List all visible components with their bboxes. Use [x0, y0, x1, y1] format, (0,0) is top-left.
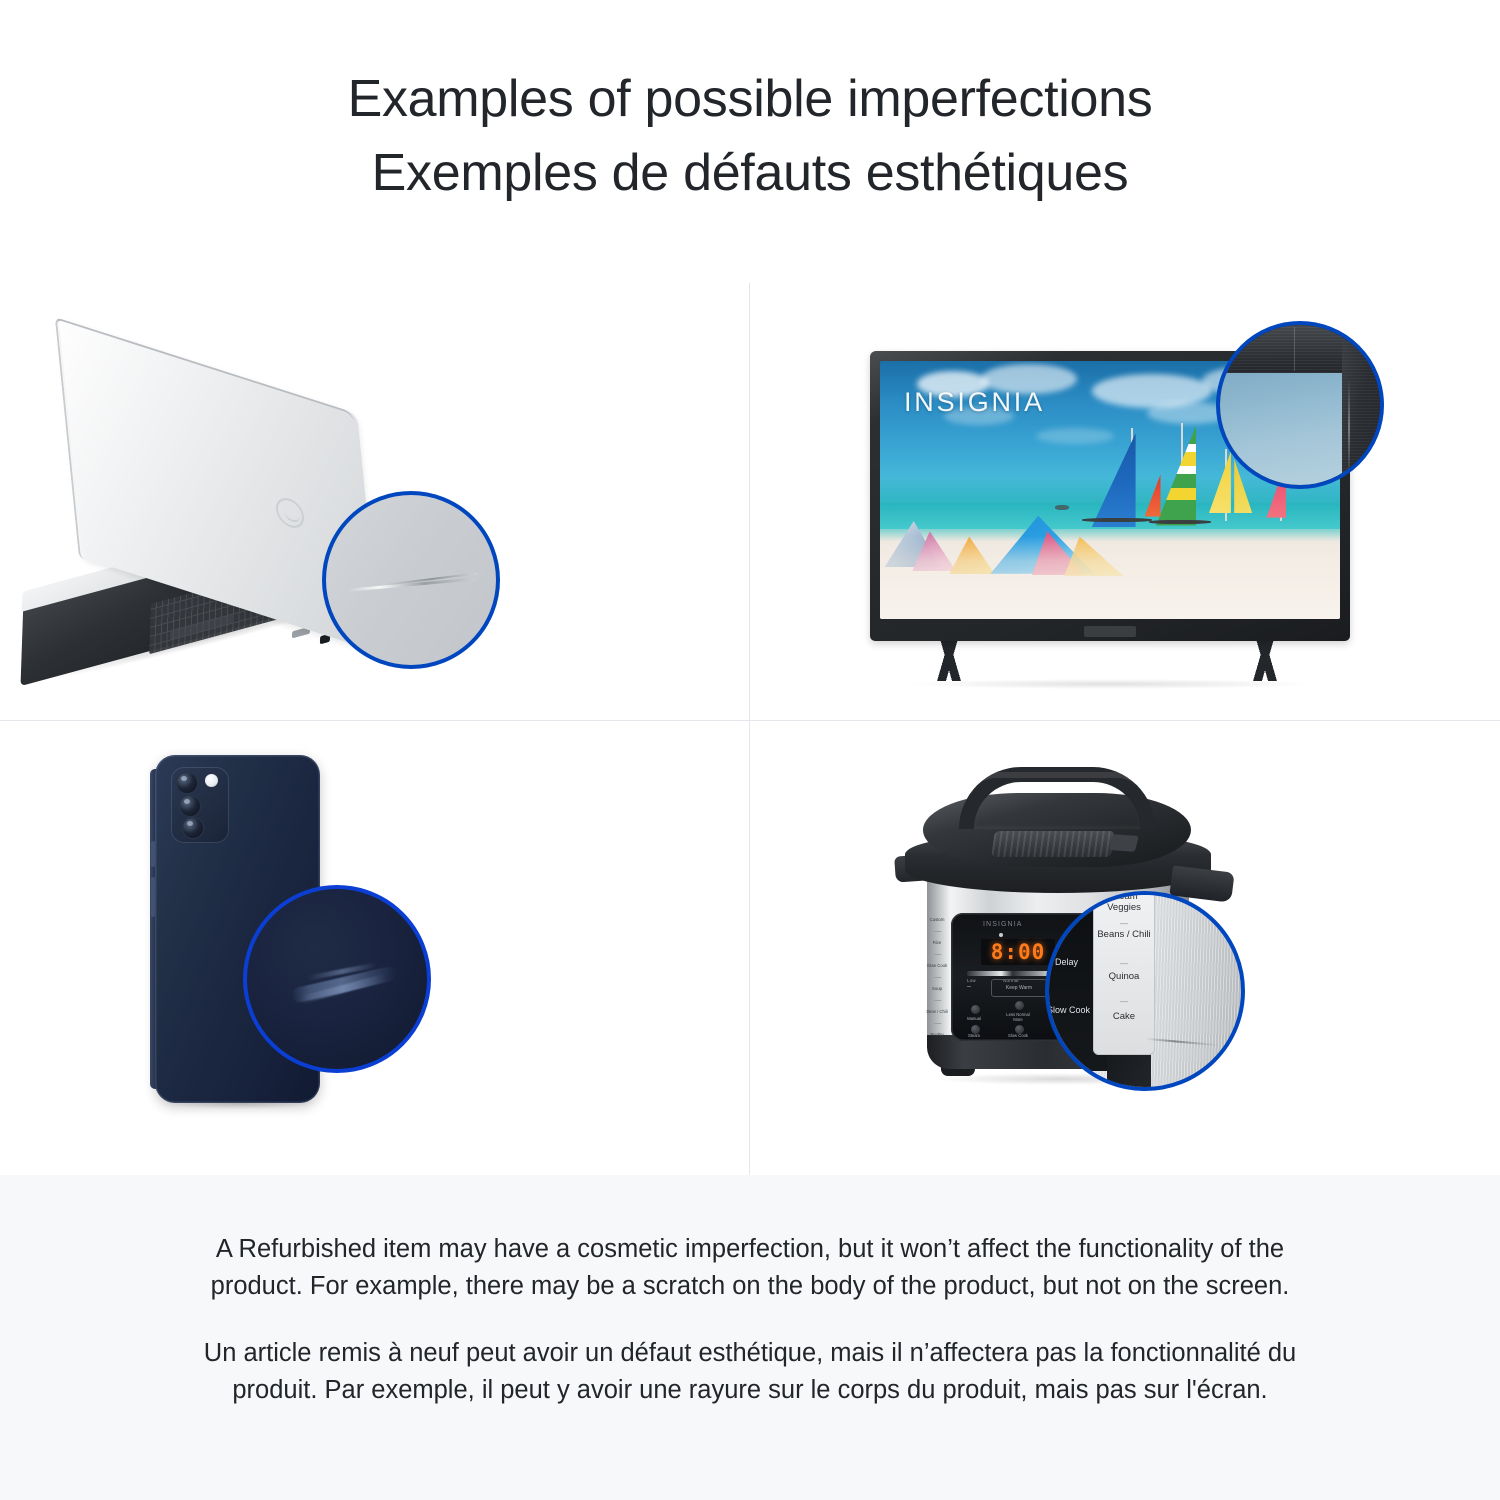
cooker-pressure-valve[interactable]: [1109, 834, 1139, 852]
television-logo-badge: [1084, 626, 1136, 637]
pressure-cooker-illustration: Custom Rice Slow Cook Soup Stew / Chili …: [875, 739, 1275, 1139]
camera-lens-3-icon: [183, 818, 203, 838]
footer-paragraph-french: Un article remis à neuf peut avoir un dé…: [170, 1335, 1330, 1409]
magnifier-television-bezel-scratch: [1216, 321, 1384, 489]
television-screen-brand-logo: INSIGNIA: [904, 387, 1045, 418]
cell-pressure-cooker: Custom Rice Slow Cook Soup Stew / Chili …: [750, 721, 1499, 1175]
cooker-lcd-display: 8:00: [981, 939, 1055, 965]
footer-paragraph-english: A Refurbished item may have a cosmetic i…: [170, 1231, 1330, 1305]
cooker-button-label: Manual: [959, 1016, 989, 1021]
magnifier-cooker-scratch: Steam Veggies — Beans / Chili — Quinoa —…: [1045, 891, 1245, 1091]
page-title-french: Exemples de défauts esthétiques: [0, 136, 1500, 210]
cooker-button-less-normal-more[interactable]: [1015, 1001, 1024, 1010]
television-foot-left: [906, 639, 992, 681]
cooker-left-label[interactable]: Rice: [925, 940, 949, 945]
cell-television: INSIGNIA: [750, 283, 1499, 720]
cooker-keep-warm-button[interactable]: Keep Warm: [991, 979, 1047, 997]
cooker-left-label[interactable]: Stew / Chili: [925, 1009, 949, 1014]
bezel-seam-line: [1294, 327, 1295, 371]
cell-laptop: [0, 283, 749, 720]
magnified-button-label[interactable]: Quinoa: [1093, 971, 1155, 982]
cooker-button-label: Slow Cook: [1003, 1033, 1033, 1038]
cooker-indicator-led: [999, 933, 1003, 937]
scratch-mark: [1348, 379, 1350, 475]
cooker-lid-vent-panel: [991, 831, 1115, 857]
cooker-button-manual[interactable]: [971, 1005, 980, 1014]
magnified-left-label[interactable]: Delay: [1055, 957, 1078, 967]
television-illustration: INSIGNIA: [870, 323, 1370, 693]
camera-lens-2-icon: [180, 796, 200, 816]
page-title: Examples of possible imperfections Exemp…: [0, 0, 1500, 210]
product-examples-grid: INSIGNIA: [0, 283, 1500, 1175]
camera-lens-1-icon: [177, 773, 197, 793]
page-title-english: Examples of possible imperfections: [0, 62, 1500, 136]
magnifier-smartphone-scuff: [243, 885, 431, 1073]
television-foot-right: [1222, 639, 1308, 681]
cooker-keep-warm-label: Keep Warm: [1006, 985, 1032, 991]
cooker-left-button-column: Custom Rice Slow Cook Soup Stew / Chili …: [925, 917, 949, 1037]
magnifier-laptop-scratch: [322, 491, 500, 669]
cooker-display-value: 8:00: [991, 940, 1046, 964]
cooker-left-label[interactable]: Soup: [925, 986, 949, 991]
cooker-button-label: Steam: [959, 1033, 989, 1038]
cooker-left-label[interactable]: Slow Cook: [925, 963, 949, 968]
cooker-minus-button[interactable]: –: [967, 983, 971, 990]
cooker-lid-handle-highlight: [971, 772, 1143, 798]
camera-module: [171, 767, 229, 843]
magnified-button-label[interactable]: Beans / Chili: [1093, 929, 1155, 940]
cooker-left-label[interactable]: Custom: [925, 917, 949, 922]
laptop-illustration: [30, 371, 450, 661]
cooker-button-label: Less Normal More: [1003, 1012, 1033, 1022]
screen-sand: [880, 536, 1340, 619]
camera-flash-icon: [205, 774, 218, 787]
magnified-left-label[interactable]: Slow Cook: [1047, 1005, 1090, 1015]
smartphone-illustration: [95, 745, 445, 1145]
cooker-brand-label: INSIGNIA: [983, 921, 1023, 928]
footer-description-panel: A Refurbished item may have a cosmetic i…: [0, 1175, 1500, 1500]
cell-smartphone: [0, 721, 749, 1175]
magnified-button-label[interactable]: Cake: [1093, 1011, 1155, 1022]
magnified-screen-area: [1216, 367, 1348, 489]
cooker-left-label[interactable]: Poultry: [925, 1032, 949, 1037]
screen-hull-2: [1149, 520, 1211, 524]
scratch-mark: [1145, 1038, 1219, 1046]
magnified-button-label-partial[interactable]: Steam Veggies: [1093, 891, 1155, 913]
